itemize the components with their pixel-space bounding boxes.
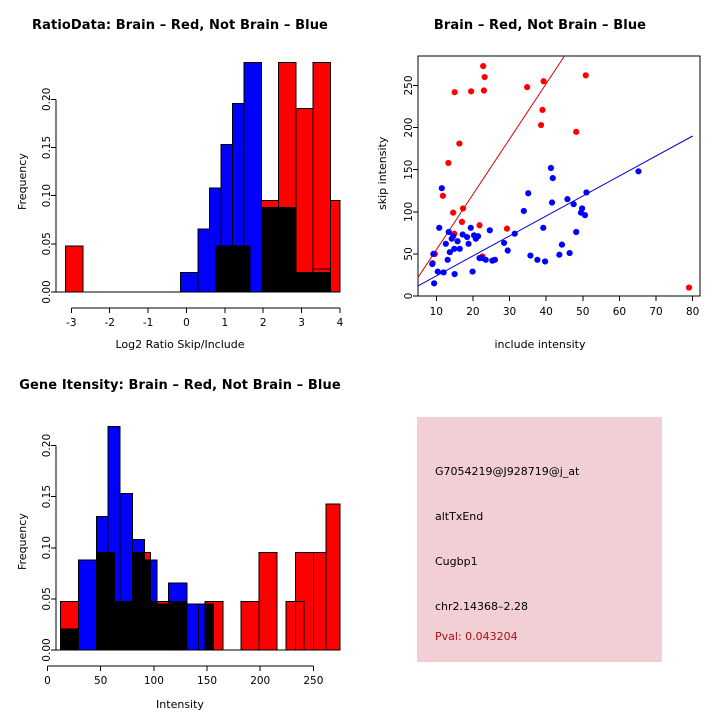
hist-bars [66, 63, 340, 292]
scatter-point [483, 257, 489, 263]
hist-bar-brain [133, 553, 151, 650]
probe-id-text: G7054219@J928719@j_at [435, 465, 579, 478]
hist-bar-brain [261, 200, 278, 292]
scatter-point [539, 107, 545, 113]
scatter-point [456, 140, 462, 146]
event-type-text: altTxEnd [435, 510, 483, 523]
scatter-point [465, 241, 471, 247]
hist-bar-brain [330, 200, 340, 292]
scatter-point [686, 284, 692, 290]
hist-bar-brain [259, 553, 277, 650]
scatter-point [452, 271, 458, 277]
scatter-point [583, 72, 589, 78]
scatter-point [440, 193, 446, 199]
x-axis-tick-label: 20 [466, 306, 479, 318]
y-axis-tick-label: 0.20 [41, 434, 53, 457]
x-axis-tick-label: 40 [539, 306, 552, 318]
x-axis-tick-label: 60 [613, 306, 626, 318]
scatter-point [540, 225, 546, 231]
hist-bar-brain [279, 63, 296, 292]
x-axis-tick-label: 3 [298, 317, 305, 329]
scatter-point [452, 89, 458, 95]
panel-annotation: G7054219@J928719@j_at altTxEnd Cugbp1 ch… [360, 360, 720, 720]
y-axis-tick-label: 0.00 [41, 638, 53, 661]
scatter-point [481, 87, 487, 93]
hist-bar-brain [115, 601, 133, 650]
x-axis-tick-label: 1 [222, 317, 229, 329]
x-axis-tick-label: -2 [104, 317, 114, 329]
hist-bar-brain [66, 246, 83, 292]
scatter-point [550, 175, 556, 181]
scatter-point [567, 250, 573, 256]
hist-bar-not-brain [181, 272, 198, 292]
scatter-point [549, 199, 555, 205]
scatter-point [480, 63, 486, 69]
scatter-point [505, 247, 511, 253]
scatter-point [457, 246, 463, 252]
x-axis-tick-label: 250 [303, 675, 323, 687]
scatter-point [573, 229, 579, 235]
x-axis-tick-label: 10 [430, 306, 443, 318]
y-axis-tick-label: 150 [403, 160, 415, 180]
scatter-point [573, 129, 579, 135]
hist-bars [60, 427, 340, 650]
hist-bar-brain [233, 246, 250, 292]
scatter-point [538, 122, 544, 128]
scatter-point [548, 165, 554, 171]
hist-bar-brain [295, 553, 313, 650]
scatter-point [583, 189, 589, 195]
panel-ratio-histogram: RatioData: Brain – Red, Not Brain – Blue… [0, 0, 360, 360]
hist-bar-brain [296, 108, 313, 292]
x-axis-tick-label: 4 [337, 317, 344, 329]
scatter-point [556, 252, 562, 258]
hist-bar-brain [151, 601, 169, 650]
scatter-point [430, 251, 436, 257]
scatter-point [534, 257, 540, 263]
scatter-point [635, 168, 641, 174]
scatter-point [454, 238, 460, 244]
scatter-point [445, 257, 451, 263]
scatter-point [579, 205, 585, 211]
scatter-plot: 0501001502002501020304050607080 [360, 0, 720, 360]
x-axis-tick-label: -3 [66, 317, 76, 329]
scatter-point [436, 225, 442, 231]
locus-text: chr2.14368–2.28 [435, 600, 528, 613]
scatter-point [435, 268, 441, 274]
x-axis-tick-label: 80 [686, 306, 699, 318]
scatter-point [476, 222, 482, 228]
scatter-point [468, 88, 474, 94]
gene-symbol-text: Cugbp1 [435, 555, 478, 568]
scatter-point [541, 78, 547, 84]
x-axis-tick-label: 70 [649, 306, 662, 318]
scatter-point [429, 261, 435, 267]
scatter-point [542, 258, 548, 264]
x-axis-tick-label: 100 [144, 675, 164, 687]
scatter-point [492, 257, 498, 263]
scatter-point [504, 226, 510, 232]
x-axis-tick-label: 150 [197, 675, 217, 687]
scatter-point [521, 208, 527, 214]
hist-bar-brain [96, 553, 114, 650]
hist-bar-brain [241, 601, 259, 650]
scatter-point [469, 268, 475, 274]
pval-text: Pval: 0.043204 [435, 630, 518, 643]
scatter-point [460, 205, 466, 211]
y-axis-tick-label: 0.20 [41, 88, 53, 111]
annotation-box: G7054219@J928719@j_at altTxEnd Cugbp1 ch… [417, 417, 662, 662]
y-axis-tick-label: 0.05 [41, 232, 53, 255]
scatter-point [450, 233, 456, 239]
ratio-hist-plot: 0.000.050.100.150.20-3-2-101234 [0, 0, 360, 360]
scatter-point [524, 84, 530, 90]
panel-intensity-histogram: Gene Itensity: Brain – Red, Not Brain – … [0, 360, 360, 720]
scatter-point [487, 227, 493, 233]
scatter-point [525, 190, 531, 196]
scatter-point [564, 196, 570, 202]
panel-scatter: Brain – Red, Not Brain – Blue include in… [360, 0, 720, 360]
hist-bar-not-brain [78, 560, 96, 650]
x-axis-tick-label: 50 [94, 675, 107, 687]
hist-bar-not-brain [187, 604, 199, 650]
x-axis-tick-label: 30 [503, 306, 516, 318]
x-axis-tick-label: 200 [250, 675, 270, 687]
hist-bar-brain [326, 504, 340, 650]
scatter-point [475, 233, 481, 239]
x-axis-tick-label: 50 [576, 306, 589, 318]
scatter-point [468, 225, 474, 231]
scatter-point [571, 201, 577, 207]
scatter-point [459, 219, 465, 225]
regression-line [418, 56, 564, 277]
y-axis-tick-label: 0.00 [41, 280, 53, 303]
scatter-axes: 0501001502002501020304050607080 [403, 75, 699, 318]
y-axis-tick-label: 0 [403, 293, 415, 300]
hist-bar-not-brain [198, 229, 210, 292]
scatter-point [527, 252, 533, 258]
y-axis-tick-label: 250 [403, 75, 415, 95]
y-axis-tick-label: 100 [403, 202, 415, 222]
intensity-hist-plot: 0.000.050.100.150.20050100150200250 [0, 360, 360, 720]
hist-bar-brain [169, 601, 187, 650]
scatter-point [482, 74, 488, 80]
plot-frame [418, 56, 700, 296]
scatter-point [512, 231, 518, 237]
plot-content [418, 56, 693, 291]
x-axis-tick-label: 0 [44, 675, 51, 687]
regression-line [418, 136, 693, 286]
y-axis-tick-label: 0.10 [41, 536, 53, 559]
scatter-point [464, 234, 470, 240]
hist-bar-brain [313, 553, 326, 650]
scatter-point [582, 212, 588, 218]
figure-canvas: RatioData: Brain – Red, Not Brain – Blue… [0, 0, 720, 720]
x-axis-tick-label: -1 [143, 317, 153, 329]
hist-bar-brain [60, 601, 78, 650]
y-axis-tick-label: 200 [403, 118, 415, 138]
scatter-point [559, 242, 565, 248]
scatter-point [445, 160, 451, 166]
y-axis-tick-label: 0.15 [41, 136, 53, 159]
scatter-point [450, 210, 456, 216]
x-axis-tick-label: 2 [260, 317, 267, 329]
y-axis-tick-label: 0.05 [41, 587, 53, 610]
scatter-point [451, 246, 457, 252]
y-axis-tick-label: 0.15 [41, 485, 53, 508]
y-axis-tick-label: 0.10 [41, 184, 53, 207]
hist-bar-brain [205, 601, 223, 650]
scatter-point [443, 241, 449, 247]
y-axis-tick-label: 50 [403, 247, 415, 260]
hist-bar-brain [313, 63, 330, 292]
hist-bar-brain [215, 246, 232, 292]
scatter-point [439, 185, 445, 191]
x-axis-tick-label: 0 [183, 317, 190, 329]
scatter-point [441, 269, 447, 275]
scatter-point [501, 240, 507, 246]
scatter-point [431, 280, 437, 286]
